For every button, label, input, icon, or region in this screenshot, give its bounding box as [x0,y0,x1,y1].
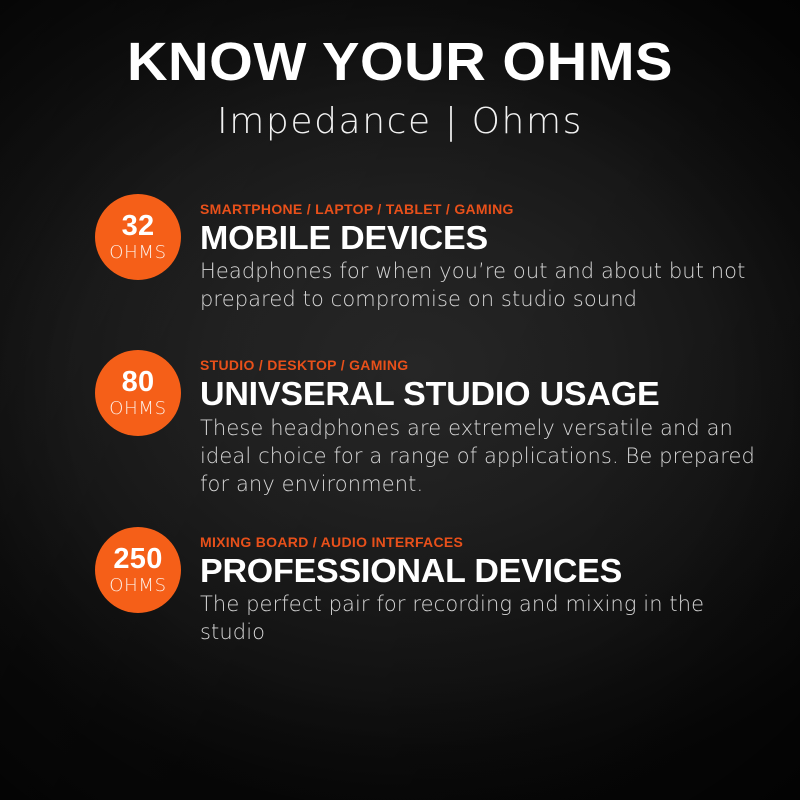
tier-description: The perfect pair for recording and mixin… [200,591,758,647]
tier-kicker: MIXING BOARD / AUDIO INTERFACES [200,535,758,549]
badge-unit: OHMS [109,577,166,595]
page-title: KNOW YOUR OHMS [0,34,800,90]
tier-title: UNIVSERAL STUDIO USAGE [200,377,775,411]
tier-description: These headphones are extremely versatile… [200,415,758,499]
tier-kicker: STUDIO / DESKTOP / GAMING [200,358,758,372]
tier-title: MOBILE DEVICES [200,221,775,255]
tier-content: MIXING BOARD / AUDIO INTERFACES PROFESSI… [200,527,758,648]
list-item: 250 OHMS MIXING BOARD / AUDIO INTERFACES… [95,527,758,648]
tier-content: SMARTPHONE / LAPTOP / TABLET / GAMING MO… [200,194,758,315]
tier-kicker: SMARTPHONE / LAPTOP / TABLET / GAMING [200,202,758,216]
tier-description: Headphones for when you’re out and about… [200,258,758,314]
impedance-badge: 250 OHMS [95,527,181,613]
tier-title: PROFESSIONAL DEVICES [200,554,775,588]
impedance-badge: 32 OHMS [95,194,181,280]
badge-value: 250 [113,545,162,574]
impedance-tier-list: 32 OHMS SMARTPHONE / LAPTOP / TABLET / G… [0,194,800,647]
impedance-badge: 80 OHMS [95,350,181,436]
poster-header: KNOW YOUR OHMS Impedance | Ohms [0,0,800,142]
badge-value: 80 [122,368,155,397]
tier-content: STUDIO / DESKTOP / GAMING UNIVSERAL STUD… [200,350,758,498]
list-item: 80 OHMS STUDIO / DESKTOP / GAMING UNIVSE… [95,350,758,498]
badge-unit: OHMS [109,244,166,262]
badge-value: 32 [122,212,155,241]
infographic-poster: KNOW YOUR OHMS Impedance | Ohms 32 OHMS … [0,0,800,800]
badge-unit: OHMS [109,400,166,418]
page-subtitle: Impedance | Ohms [0,102,800,142]
list-item: 32 OHMS SMARTPHONE / LAPTOP / TABLET / G… [95,194,758,315]
